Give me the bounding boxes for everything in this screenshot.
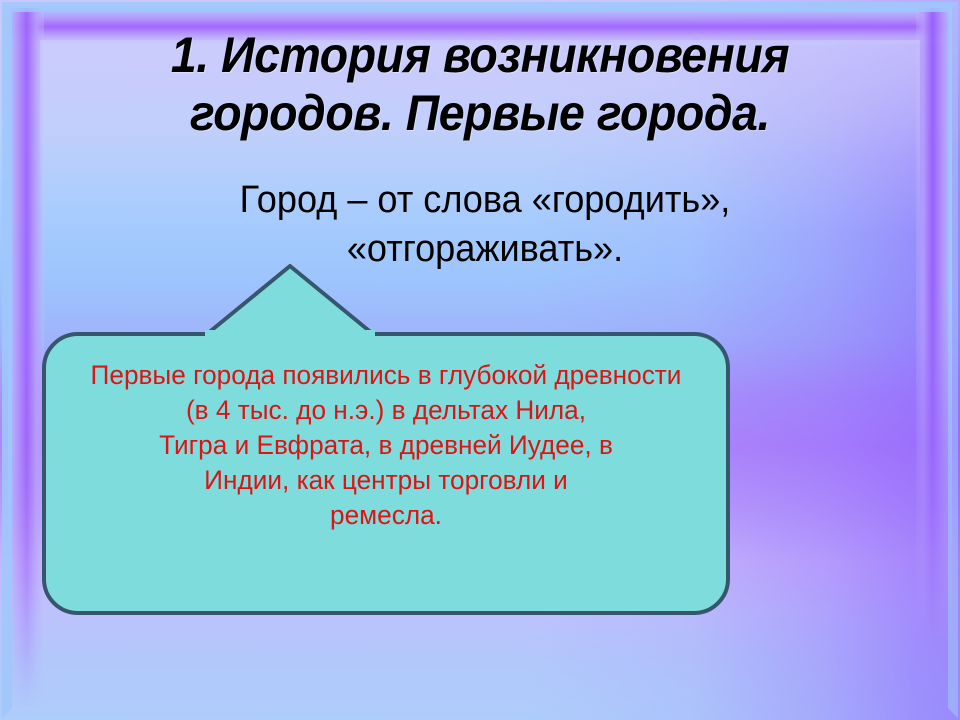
page-title: 1. История возникновения городов. Первые… (80, 26, 880, 142)
callout-balloon: Первые города появились в глубокой древн… (42, 332, 730, 615)
callout-tail-icon (205, 264, 375, 336)
callout-text: Первые города появились в глубокой древн… (70, 358, 702, 533)
slide-canvas: 1. История возникновения городов. Первые… (0, 0, 960, 720)
slide-subtitle: Город – от слова «городить», «отгоражива… (110, 176, 861, 273)
